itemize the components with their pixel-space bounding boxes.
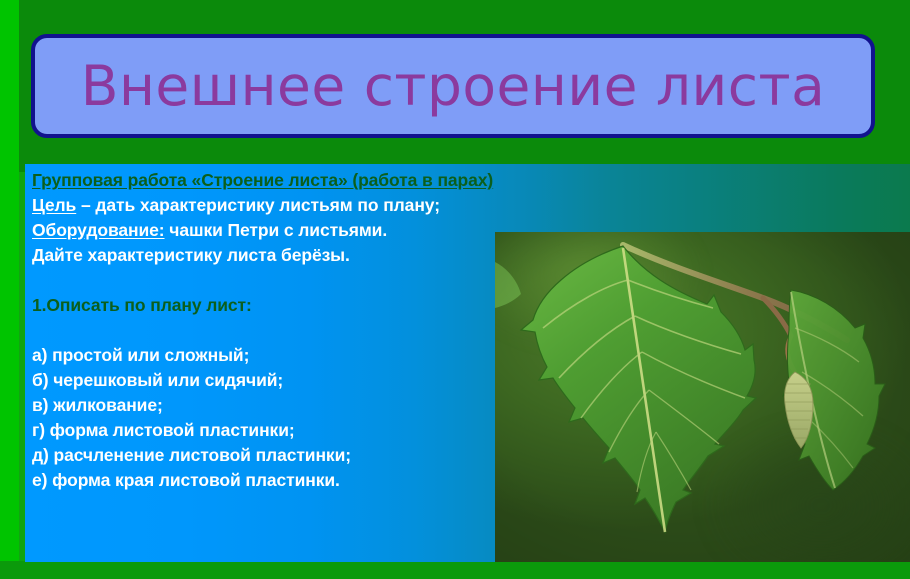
- slide-background-bottom-strip: [0, 561, 910, 579]
- goal-label: Цель: [32, 195, 76, 215]
- task-line: Дайте характеристику листа берёзы.: [32, 243, 502, 268]
- plan-item: е) форма края листовой пластинки.: [32, 468, 502, 493]
- lesson-text-block: Групповая работа «Строение листа» (работ…: [32, 168, 502, 493]
- plan-item: в) жилкование;: [32, 393, 502, 418]
- plan-heading: 1.Описать по плану лист:: [32, 293, 502, 318]
- text-spacer-2: [32, 318, 502, 343]
- equipment-text: чашки Петри с листьями.: [165, 220, 388, 240]
- text-spacer-1: [32, 268, 502, 293]
- plan-item: б) черешковый или сидячий;: [32, 368, 502, 393]
- goal-line: Цель – дать характеристику листьям по пл…: [32, 193, 502, 218]
- title-box: Внешнее строение листа: [31, 34, 875, 138]
- page-title: Внешнее строение листа: [81, 59, 826, 114]
- goal-text: – дать характеристику листьям по плану;: [76, 195, 440, 215]
- birch-leaf-photo: [495, 232, 910, 562]
- plan-item: г) форма листовой пластинки;: [32, 418, 502, 443]
- slide-background-left-strip: [0, 0, 19, 579]
- plan-item: д) расчленение листовой пластинки;: [32, 443, 502, 468]
- equipment-label: Оборудование:: [32, 220, 165, 240]
- plan-item: а) простой или сложный;: [32, 343, 502, 368]
- group-work-heading: Групповая работа «Строение листа» (работ…: [32, 168, 502, 193]
- photo-vignette: [495, 232, 910, 562]
- equipment-line: Оборудование: чашки Петри с листьями.: [32, 218, 502, 243]
- presentation-slide: Внешнее строение листа Групповая работа …: [0, 0, 910, 579]
